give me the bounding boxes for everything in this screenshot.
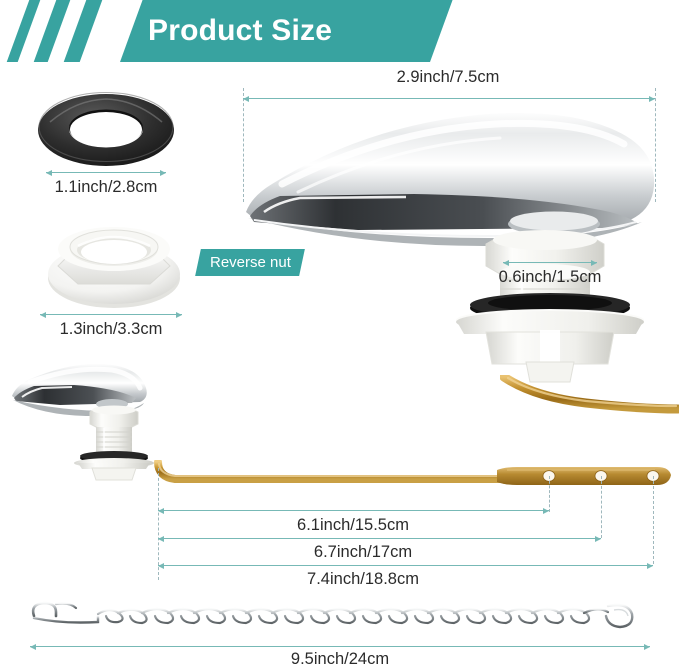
header-banner: Product Size: [0, 0, 679, 62]
banner-stripe-3: [64, 0, 103, 62]
rod-mid-dimension-label: 6.7inch/17cm: [268, 543, 458, 562]
banner-stripe-1: [7, 0, 41, 62]
rod-long-dimension-line: [158, 565, 653, 566]
rod-mid-dimension-line: [158, 538, 601, 539]
handle-width-dimension-line: [243, 98, 655, 99]
product-size-infographic: Product Size 1.1inch/2.8cm: [0, 0, 679, 668]
brass-rod-lower: [145, 460, 675, 508]
metal-flapper-chain: [22, 592, 662, 634]
thread-diameter-dimension-label: 0.6inch/1.5cm: [488, 268, 612, 287]
rod-witness-short: [549, 476, 550, 512]
banner-stripe-2: [34, 0, 71, 62]
page-title: Product Size: [148, 0, 332, 62]
rod-short-dimension-line: [158, 510, 549, 511]
reverse-nut: [34, 222, 194, 314]
rod-witness-mid: [601, 476, 602, 538]
nut-dimension-line: [40, 314, 182, 315]
rod-short-dimension-label: 6.1inch/15.5cm: [258, 516, 448, 535]
rubber-gasket: [36, 88, 176, 168]
chain-dimension-label: 9.5inch/24cm: [240, 650, 440, 668]
brass-rod-upper: [500, 375, 679, 423]
gasket-dimension-label: 1.1inch/2.8cm: [36, 178, 176, 197]
rod-long-dimension-label: 7.4inch/18.8cm: [268, 570, 458, 589]
thread-diameter-dimension-line: [503, 262, 597, 263]
gasket-dimension-line: [46, 172, 166, 173]
chain-dimension-line: [30, 646, 650, 647]
handle-width-dimension-label: 2.9inch/7.5cm: [288, 68, 608, 87]
rod-witness-long: [653, 476, 654, 564]
nut-dimension-label: 1.3inch/3.3cm: [30, 320, 192, 339]
